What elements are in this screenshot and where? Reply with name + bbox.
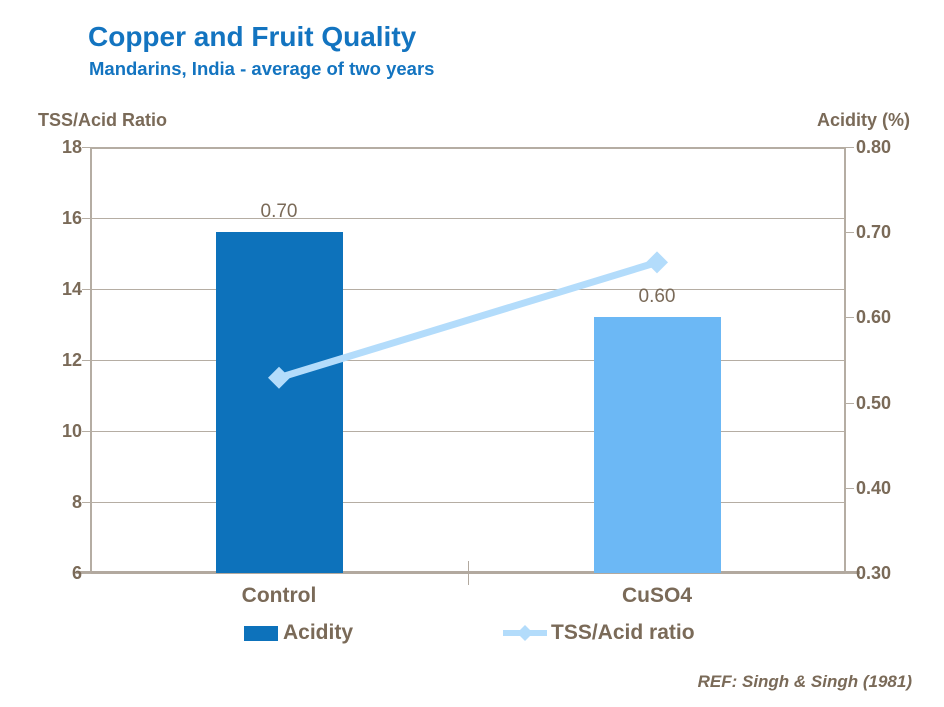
right-axis-tick-label: 0.40 — [856, 479, 936, 497]
left-axis-tick-label: 10 — [22, 422, 82, 440]
line-series — [90, 147, 846, 573]
right-axis-tick — [845, 573, 854, 574]
left-axis-tick-label: 16 — [22, 209, 82, 227]
left-axis-tick-label: 18 — [22, 138, 82, 156]
right-axis-tick-label: 0.70 — [856, 223, 936, 241]
legend-item-acidity[interactable]: Acidity — [244, 618, 353, 648]
legend-line-diamond-icon — [503, 625, 547, 641]
line-marker-control[interactable] — [268, 367, 290, 389]
right-axis-tick — [845, 488, 854, 489]
chart-title: Copper and Fruit Quality — [88, 21, 416, 53]
left-axis-tick-label: 14 — [22, 280, 82, 298]
chart-legend: Acidity TSS/Acid ratio — [0, 618, 944, 652]
category-label-cuso4: CuSO4 — [557, 584, 757, 608]
legend-label-acidity: Acidity — [283, 621, 353, 645]
right-axis-tick — [845, 147, 854, 148]
left-axis-tick-label: 8 — [22, 493, 82, 511]
right-axis-tick-label: 0.80 — [856, 138, 936, 156]
category-separator-tick — [468, 561, 469, 585]
left-axis-title: TSS/Acid Ratio — [38, 110, 167, 131]
category-label-control: Control — [179, 584, 379, 608]
reference-note: REF: Singh & Singh (1981) — [698, 672, 912, 692]
left-axis-tick-label: 6 — [22, 564, 82, 582]
right-axis-tick — [845, 232, 854, 233]
chart-subtitle: Mandarins, India - average of two years — [89, 58, 434, 80]
right-axis-title: Acidity (%) — [817, 110, 910, 131]
left-axis-tick-label: 12 — [22, 351, 82, 369]
right-axis-tick-label: 0.30 — [856, 564, 936, 582]
right-axis-tick-label: 0.60 — [856, 308, 936, 326]
right-axis-tick — [845, 403, 854, 404]
chart-container: Copper and Fruit Quality Mandarins, Indi… — [0, 0, 944, 707]
line-marker-cuso4[interactable] — [646, 251, 668, 273]
plot-area: 181614121086 0.800.700.600.500.400.30 0.… — [90, 147, 846, 573]
right-axis-tick-label: 0.50 — [856, 394, 936, 412]
legend-color-swatch-icon — [244, 626, 278, 641]
right-axis-tick — [845, 317, 854, 318]
left-axis-tick — [82, 573, 91, 574]
legend-item-tss-acid-ratio[interactable]: TSS/Acid ratio — [503, 618, 695, 648]
legend-label-tss-acid-ratio: TSS/Acid ratio — [551, 621, 695, 645]
